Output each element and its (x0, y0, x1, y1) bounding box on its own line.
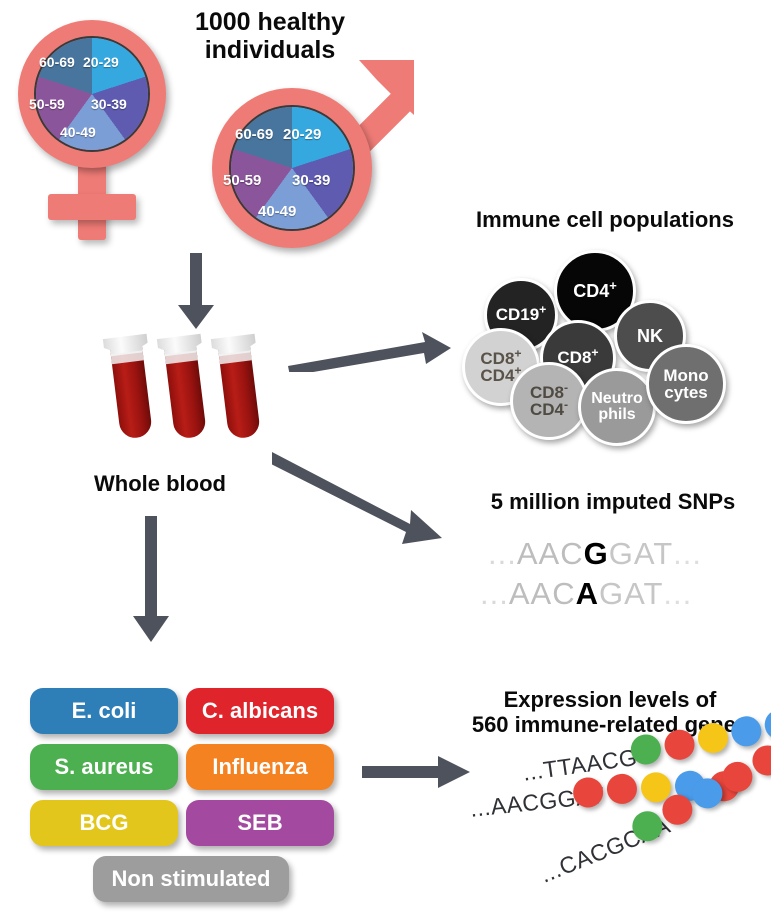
age-label-50-59-female: 50-59 (29, 96, 65, 112)
snp-row1-pre: AAC (517, 536, 584, 572)
expression-title-line1: Expression levels of (450, 688, 770, 713)
immune-cell-monocytes-label: Monocytes (663, 367, 708, 402)
immune-cell-cd8neg-cd4neg-label: CD8- CD4- (530, 384, 568, 419)
immune-cell-cd19-label: CD19+ (496, 306, 547, 323)
arrow-down-subjects-to-blood (176, 253, 220, 331)
figure-canvas: 1000 healthy individuals 60-69 20-29 50-… (0, 0, 771, 922)
age-label-50-59-male: 50-59 (223, 172, 261, 189)
arrow-blood-to-immune-cells (288, 330, 453, 372)
age-label-40-49-female: 40-49 (60, 124, 96, 140)
age-label-30-39-female: 30-39 (91, 96, 127, 112)
expression-bead (663, 728, 697, 762)
stimulus-non-stimulated-label: Non stimulated (112, 866, 271, 892)
immune-cell-monocytes[interactable]: Monocytes (646, 344, 726, 424)
stimulus-s-aureus[interactable]: S. aureus (30, 744, 178, 790)
age-label-40-49-male: 40-49 (258, 203, 296, 220)
immune-cell-neutrophils[interactable]: Neutrophils (578, 368, 656, 446)
arrow-blood-to-snps (272, 452, 448, 548)
stimulus-influenza[interactable]: Influenza (186, 744, 334, 790)
snp-row1-post: GAT (609, 536, 673, 572)
female-symbol-crossbar (48, 194, 136, 220)
whole-blood-label: Whole blood (60, 472, 260, 497)
male-gender-symbol: 60-69 20-29 50-59 30-39 40-49 (196, 40, 426, 260)
snp-row2-suffix: ... (663, 576, 692, 612)
stimulus-seb[interactable]: SEB (186, 800, 334, 846)
immune-cell-nk-label: NK (637, 327, 663, 345)
snp-row1-prefix: ... (488, 536, 517, 572)
age-label-20-29-male: 20-29 (283, 126, 321, 143)
stimulus-bcg-label: BCG (80, 810, 129, 836)
stimulus-non-stimulated[interactable]: Non stimulated (93, 856, 289, 902)
immune-cell-neutrophils-label: Neutrophils (591, 391, 643, 424)
stimulus-c-albicans[interactable]: C. albicans (186, 688, 334, 734)
snp-row2-prefix: ... (480, 576, 509, 612)
female-gender-symbol: 60-69 20-29 50-59 30-39 40-49 (8, 12, 198, 242)
immune-cell-cd8neg-cd4neg[interactable]: CD8- CD4- (510, 362, 588, 440)
snp-row2-post: GAT (599, 576, 663, 612)
age-label-60-69-female: 60-69 (39, 54, 75, 70)
immune-cell-cluster: CD19+ CD4+ CD8+ CD4+ CD8+ NK CD8- C (462, 240, 752, 420)
age-label-30-39-male: 30-39 (292, 172, 330, 189)
age-label-60-69-male: 60-69 (235, 126, 273, 143)
stimulus-e-coli[interactable]: E. coli (30, 688, 178, 734)
immune-populations-title: Immune cell populations (440, 208, 770, 233)
blood-tubes-svg (100, 330, 280, 460)
arrow-stimuli-to-expression (362, 756, 474, 792)
age-label-20-29-female: 20-29 (83, 54, 119, 70)
arrow-down-blood-to-stimuli (130, 516, 174, 644)
immune-cell-cd4-label: CD4+ (573, 282, 617, 300)
whole-blood-tubes (100, 330, 280, 460)
stimulus-c-albicans-label: C. albicans (202, 698, 318, 724)
snp-row2-allele: A (576, 576, 599, 612)
snp-sequence-row2: ...AACAGAT... (480, 576, 692, 612)
stimulus-influenza-label: Influenza (212, 754, 307, 780)
snp-sequence-row1: ...AACGGAT... (488, 536, 702, 572)
expression-bead (605, 772, 638, 805)
expression-bead (696, 721, 730, 755)
stimulus-seb-label: SEB (237, 810, 282, 836)
stimulus-bcg[interactable]: BCG (30, 800, 178, 846)
snp-row1-allele: G (584, 536, 609, 572)
snp-row2-pre: AAC (509, 576, 576, 612)
snp-title: 5 million imputed SNPs (458, 490, 768, 515)
stimulus-e-coli-label: E. coli (72, 698, 137, 724)
stimulus-s-aureus-label: S. aureus (54, 754, 153, 780)
snp-row1-suffix: ... (673, 536, 702, 572)
